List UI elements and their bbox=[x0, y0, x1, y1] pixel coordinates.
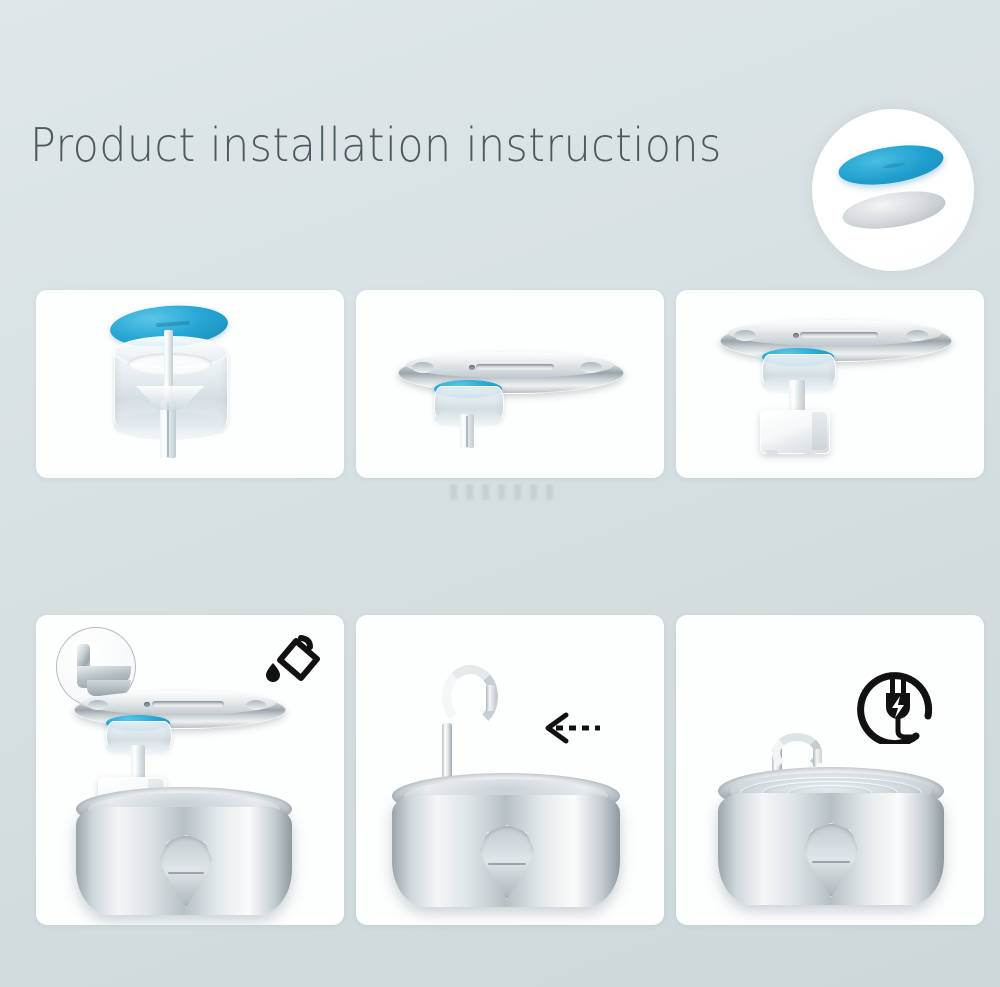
step-card-2 bbox=[356, 290, 664, 478]
lid-slot bbox=[152, 701, 224, 707]
step-card-1 bbox=[36, 290, 344, 478]
power-plug-icon bbox=[856, 660, 940, 744]
pump-motor-foot-right bbox=[804, 450, 816, 455]
step-1-illustration bbox=[36, 290, 344, 478]
lid-left-notch bbox=[412, 362, 434, 373]
dashed-left-arrow-icon bbox=[542, 711, 604, 745]
step-card-3 bbox=[676, 290, 984, 478]
lid-right-notch bbox=[580, 362, 602, 373]
step-card-5 bbox=[356, 615, 664, 925]
fountain-spout-stem bbox=[442, 723, 452, 779]
product-installation-page: Product installation instructions bbox=[0, 0, 1000, 987]
lid-slot bbox=[476, 364, 554, 370]
lid-right-notch bbox=[906, 330, 928, 341]
fountain-spout-tip bbox=[486, 685, 495, 711]
step-4-illustration bbox=[36, 615, 344, 925]
step-6-illustration bbox=[676, 615, 984, 925]
step-card-6 bbox=[676, 615, 984, 925]
filter-lid-blue-icon bbox=[836, 139, 946, 191]
intake-tube-seam bbox=[466, 416, 468, 447]
lid-spout-hole bbox=[144, 702, 150, 707]
lid-left-notch bbox=[734, 330, 756, 341]
pump-motor-side-panel bbox=[812, 412, 827, 450]
step-card-4 bbox=[36, 615, 344, 925]
lid-spout-hole bbox=[469, 365, 475, 370]
lid-slot bbox=[800, 332, 878, 338]
step-3-illustration bbox=[676, 290, 984, 478]
background-artifact bbox=[450, 484, 560, 500]
pour-water-icon bbox=[261, 632, 323, 694]
intake-tube-seam bbox=[167, 402, 169, 457]
step-5-illustration bbox=[356, 615, 664, 925]
step-2-illustration bbox=[356, 290, 664, 478]
filter-preview-badge bbox=[812, 109, 974, 271]
lid-spout-hole bbox=[793, 333, 799, 338]
filter-base-clear-icon bbox=[840, 185, 948, 235]
page-title: Product installation instructions bbox=[30, 118, 722, 172]
lid-right-notch bbox=[246, 700, 266, 710]
pump-motor-foot-left bbox=[766, 450, 778, 455]
lid-left-notch bbox=[88, 700, 108, 710]
